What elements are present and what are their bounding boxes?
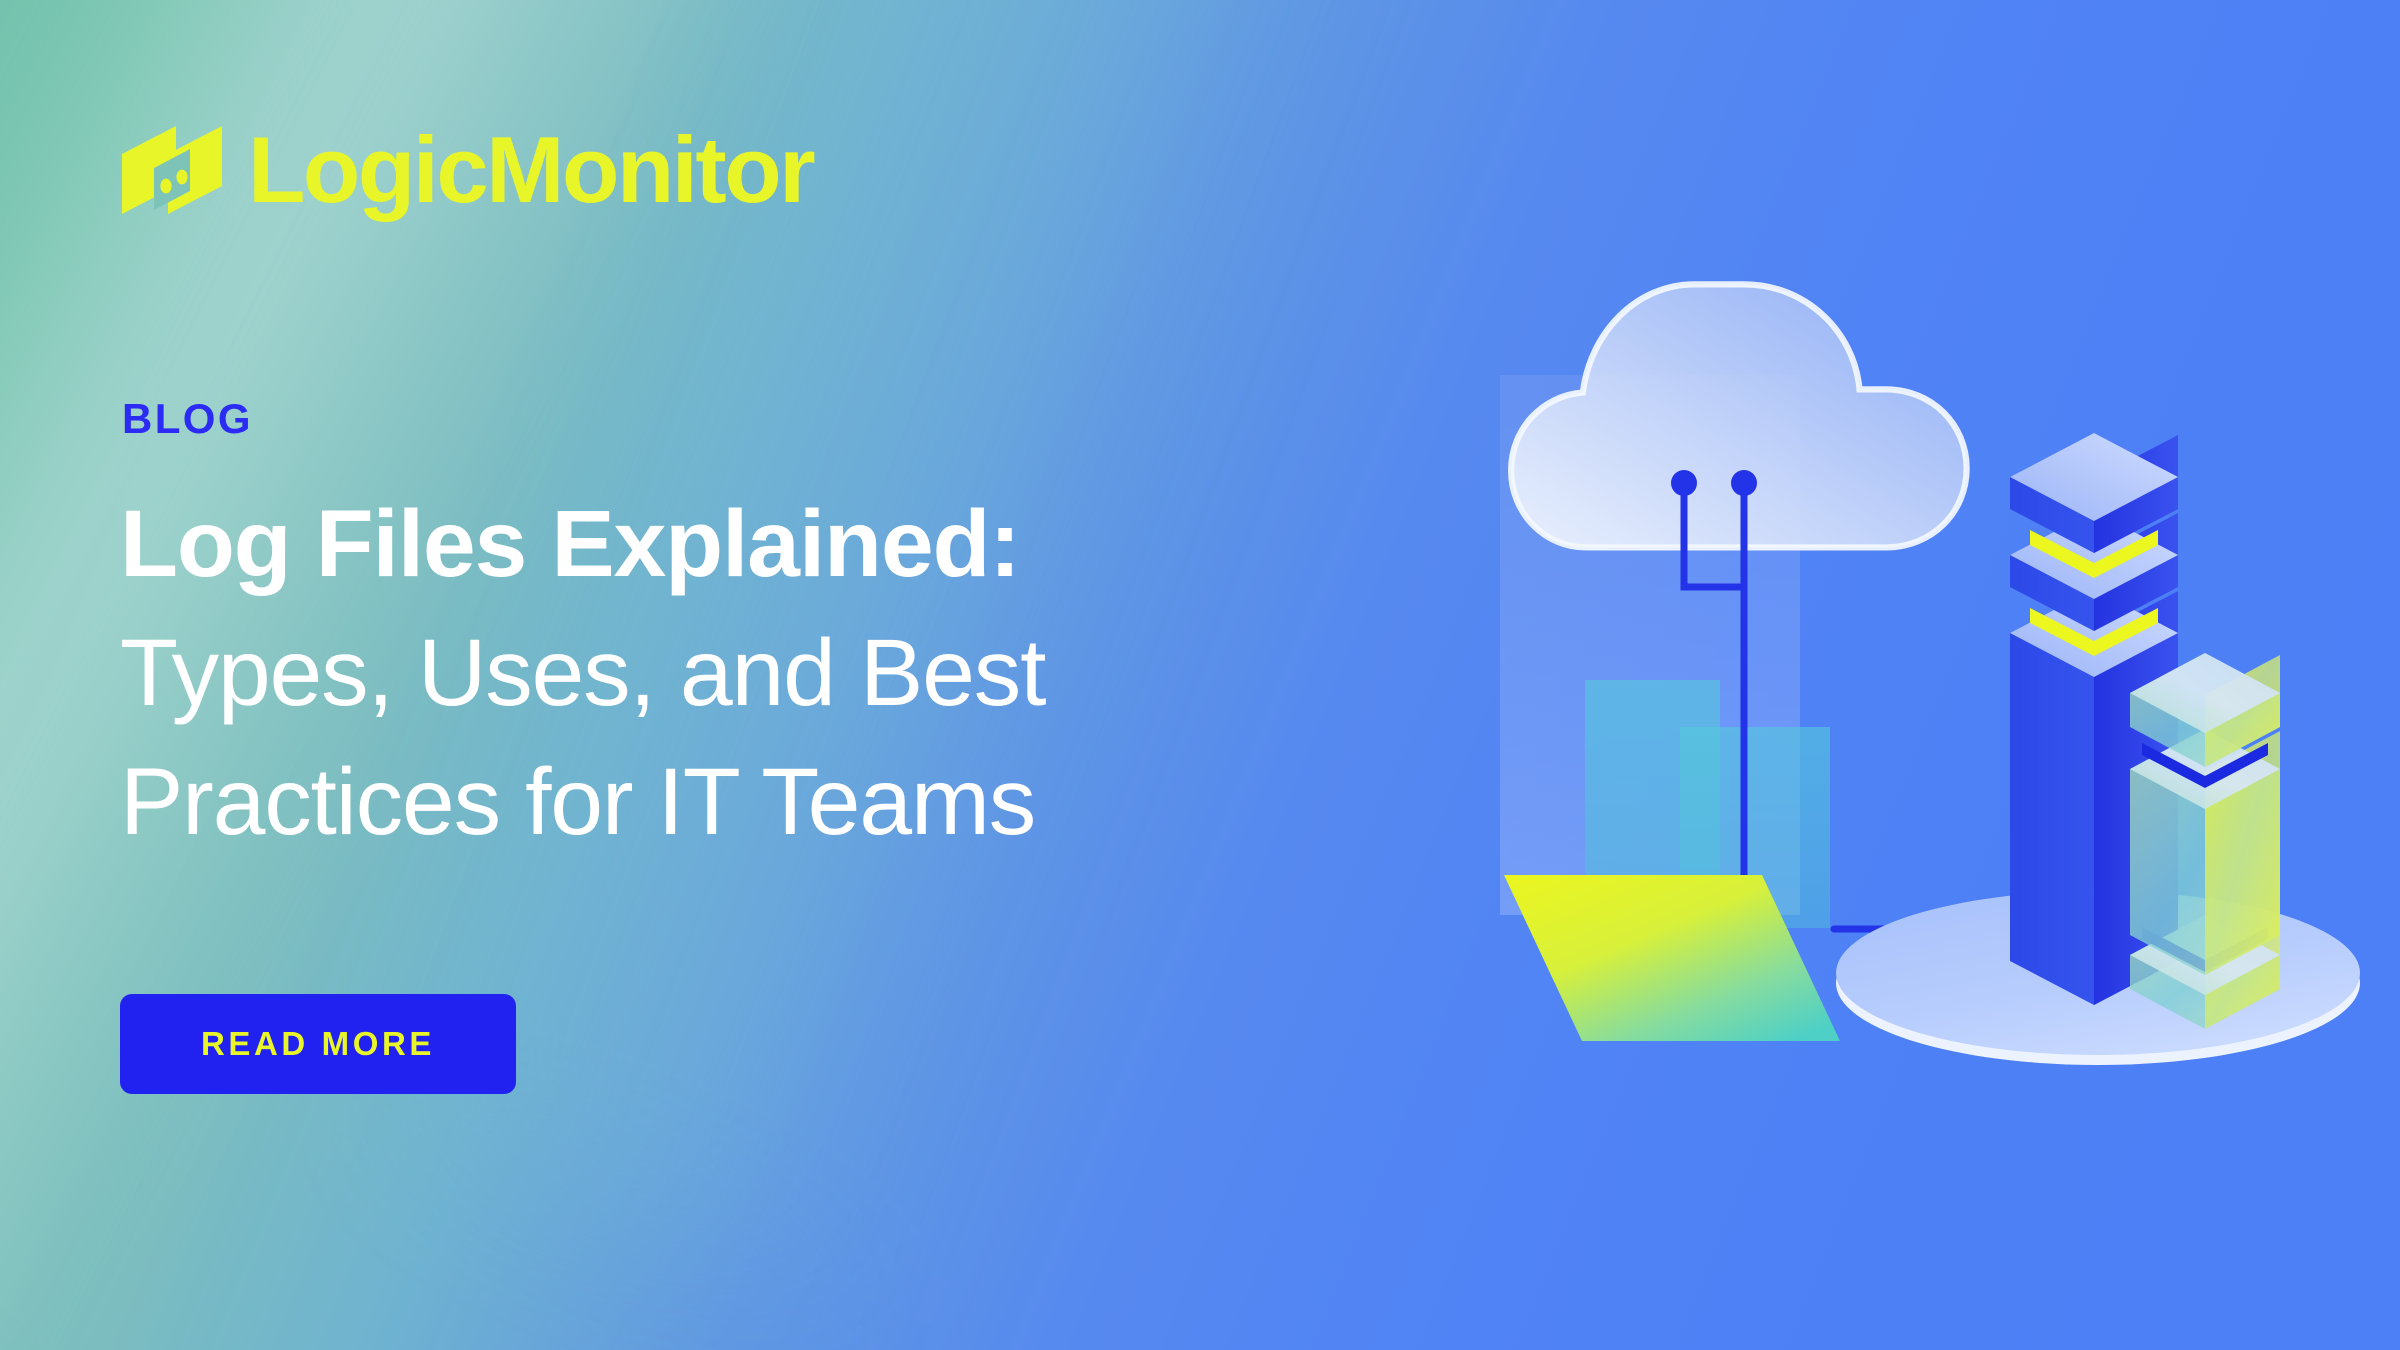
logicmonitor-logo[interactable]: LogicMonitor [120, 118, 813, 222]
headline-line-3: Practices for IT Teams [120, 738, 1450, 867]
page-title: Log Files Explained: Types, Uses, and Be… [120, 480, 1450, 868]
read-more-button[interactable]: READ MORE [120, 994, 516, 1094]
cloud-icon [1511, 284, 1967, 547]
server-stack-icon [2130, 653, 2280, 1029]
banner-content: LogicMonitor BLOG Log Files Explained: T… [120, 0, 1450, 1350]
logicmonitor-parallelogram-icon [120, 118, 224, 222]
logo-wordmark: LogicMonitor [248, 123, 813, 217]
illustration-cloud-to-datacenter [1490, 255, 2370, 1105]
headline-line-1: Log Files Explained: [120, 480, 1450, 609]
headline-line-2: Types, Uses, and Best [120, 609, 1450, 738]
blog-promo-banner: LogicMonitor BLOG Log Files Explained: T… [0, 0, 2400, 1350]
eyebrow-label: BLOG [122, 398, 253, 440]
